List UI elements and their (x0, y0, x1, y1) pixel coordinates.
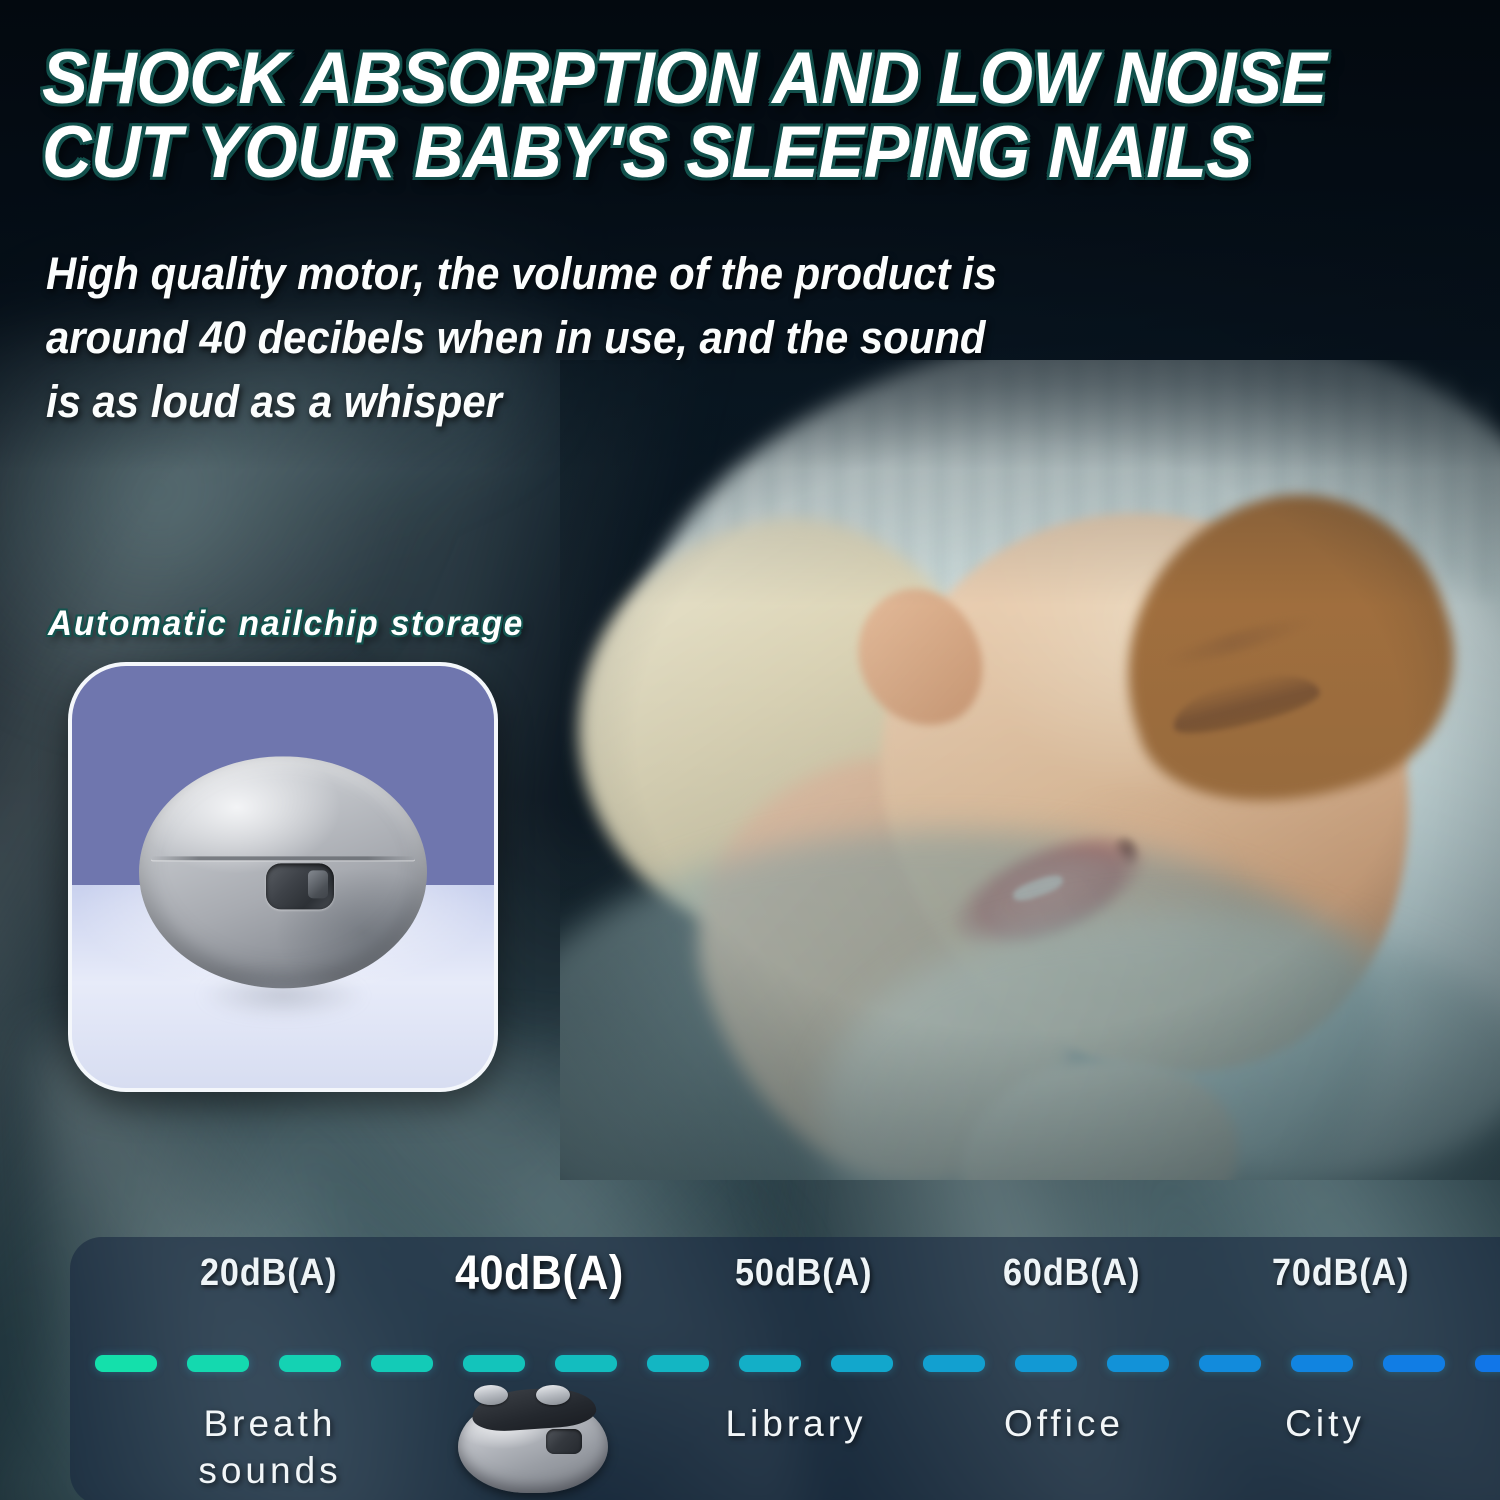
scene-label-row: Breath soundsLibraryOfficeCity (0, 1400, 1500, 1500)
device-seam (151, 856, 416, 860)
scene-label-office: Office (1004, 1400, 1124, 1447)
noise-dash (95, 1355, 157, 1372)
noise-dash (923, 1355, 985, 1372)
headline-line-2: CUT YOUR BABY'S SLEEPING NAILS (42, 116, 1358, 190)
mini-device-chip-window (546, 1429, 582, 1454)
decibel-label-row: 20dB(A)40dB(A)50dB(A)60dB(A)70dB(A) (70, 1252, 1500, 1318)
noise-dash (831, 1355, 893, 1372)
noise-dash (1291, 1355, 1353, 1372)
scene-label-city: City (1285, 1400, 1365, 1447)
noise-dash (1383, 1355, 1445, 1372)
subtitle-line-1: High quality motor, the volume of the pr… (46, 242, 1060, 306)
noise-gradient-dash-bar (0, 1355, 1500, 1375)
noise-dash (739, 1355, 801, 1372)
noise-dash (1015, 1355, 1077, 1372)
scene-label-library: Library (725, 1400, 866, 1447)
subtitle-line-2: around 40 decibels when in use, and the … (46, 306, 1060, 370)
noise-dash (371, 1355, 433, 1372)
noise-dash (555, 1355, 617, 1372)
subtitle-line-3: is as loud as a whisper (46, 370, 1060, 434)
noise-dash (647, 1355, 709, 1372)
storage-feature-label: Automatic nailchip storage (48, 604, 524, 644)
headline-line-1: SHOCK ABSORPTION AND LOW NOISE (42, 42, 1358, 116)
subtitle-text: High quality motor, the volume of the pr… (46, 242, 1060, 434)
decibel-label-40: 40dB(A) (455, 1246, 624, 1301)
scene-label-breath: Breath sounds (198, 1400, 341, 1495)
nail-clipper-device-small-icon (458, 1383, 608, 1495)
noise-dash (1107, 1355, 1169, 1372)
page-title: SHOCK ABSORPTION AND LOW NOISE CUT YOUR … (42, 42, 1358, 191)
noise-dash (187, 1355, 249, 1372)
decibel-label-50: 50dB(A) (735, 1252, 872, 1295)
device-chip-window (266, 863, 334, 909)
product-feature-banner: SHOCK ABSORPTION AND LOW NOISE CUT YOUR … (0, 0, 1500, 1500)
noise-dash (279, 1355, 341, 1372)
mini-device-knob-right (536, 1385, 570, 1405)
noise-dash (1475, 1355, 1500, 1372)
noise-dash (463, 1355, 525, 1372)
device-reflection (174, 965, 393, 1025)
decibel-label-70: 70dB(A) (1272, 1252, 1409, 1295)
nail-clipper-device-icon (139, 756, 427, 988)
noise-dash (1199, 1355, 1261, 1372)
decibel-label-60: 60dB(A) (1003, 1252, 1140, 1295)
decibel-label-20: 20dB(A) (200, 1252, 337, 1295)
mini-device-knob-left (474, 1385, 508, 1405)
product-card (68, 662, 498, 1092)
